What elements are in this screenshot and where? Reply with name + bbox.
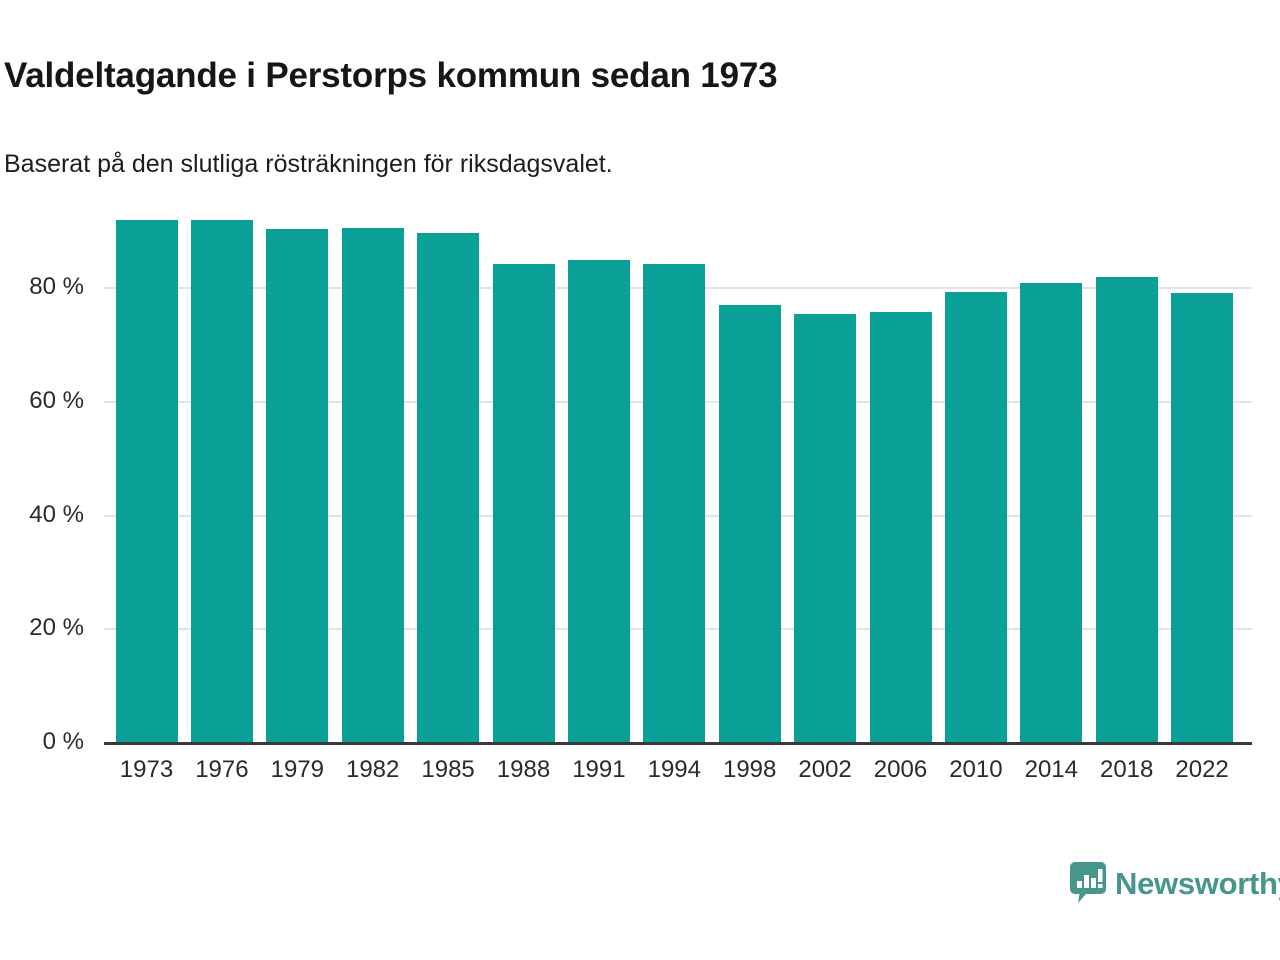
- x-tick-label-1994: 1994: [639, 756, 709, 784]
- bar-2014[interactable]: [1020, 283, 1082, 743]
- x-tick-label-1973: 1973: [112, 756, 182, 784]
- bar-2010[interactable]: [945, 292, 1007, 743]
- x-tick-label-1988: 1988: [489, 756, 559, 784]
- bar-1988[interactable]: [493, 264, 555, 743]
- bar-1976[interactable]: [191, 220, 253, 743]
- y-tick-label-40: 40 %: [29, 501, 84, 529]
- bar-1973[interactable]: [116, 220, 178, 743]
- bar-2022[interactable]: [1171, 293, 1233, 743]
- x-tick-label-2002: 2002: [790, 756, 860, 784]
- brand-name: Newsworthy: [1115, 868, 1280, 899]
- x-tick-label-2006: 2006: [866, 756, 936, 784]
- bar-1998[interactable]: [719, 305, 781, 743]
- bar-2006[interactable]: [870, 312, 932, 743]
- bar-1982[interactable]: [342, 228, 404, 743]
- bar-chart-speech-bubble-icon: [1070, 862, 1106, 904]
- x-tick-label-2022: 2022: [1167, 756, 1237, 784]
- newsworthy-logo: Newsworthy: [1070, 862, 1280, 904]
- x-tick-label-1985: 1985: [413, 756, 483, 784]
- bar-1991[interactable]: [568, 260, 630, 743]
- bar-chart: 0 %20 %40 %60 %80 % 19731976197919821985…: [0, 0, 1280, 960]
- x-tick-label-1991: 1991: [564, 756, 634, 784]
- x-tick-label-1998: 1998: [715, 756, 785, 784]
- x-tick-label-2010: 2010: [941, 756, 1011, 784]
- x-tick-label-1982: 1982: [338, 756, 408, 784]
- bar-2002[interactable]: [794, 314, 856, 743]
- bar-1994[interactable]: [643, 264, 705, 743]
- y-tick-label-0: 0 %: [43, 728, 84, 756]
- bar-1979[interactable]: [266, 229, 328, 743]
- x-tick-label-2018: 2018: [1092, 756, 1162, 784]
- x-tick-label-2014: 2014: [1016, 756, 1086, 784]
- x-tick-label-1979: 1979: [262, 756, 332, 784]
- bar-1985[interactable]: [417, 233, 479, 743]
- y-tick-label-80: 80 %: [29, 273, 84, 301]
- bar-2018[interactable]: [1096, 277, 1158, 743]
- y-tick-label-20: 20 %: [29, 614, 84, 642]
- x-axis-line: [104, 742, 1252, 745]
- y-tick-label-60: 60 %: [29, 387, 84, 415]
- x-tick-label-1976: 1976: [187, 756, 257, 784]
